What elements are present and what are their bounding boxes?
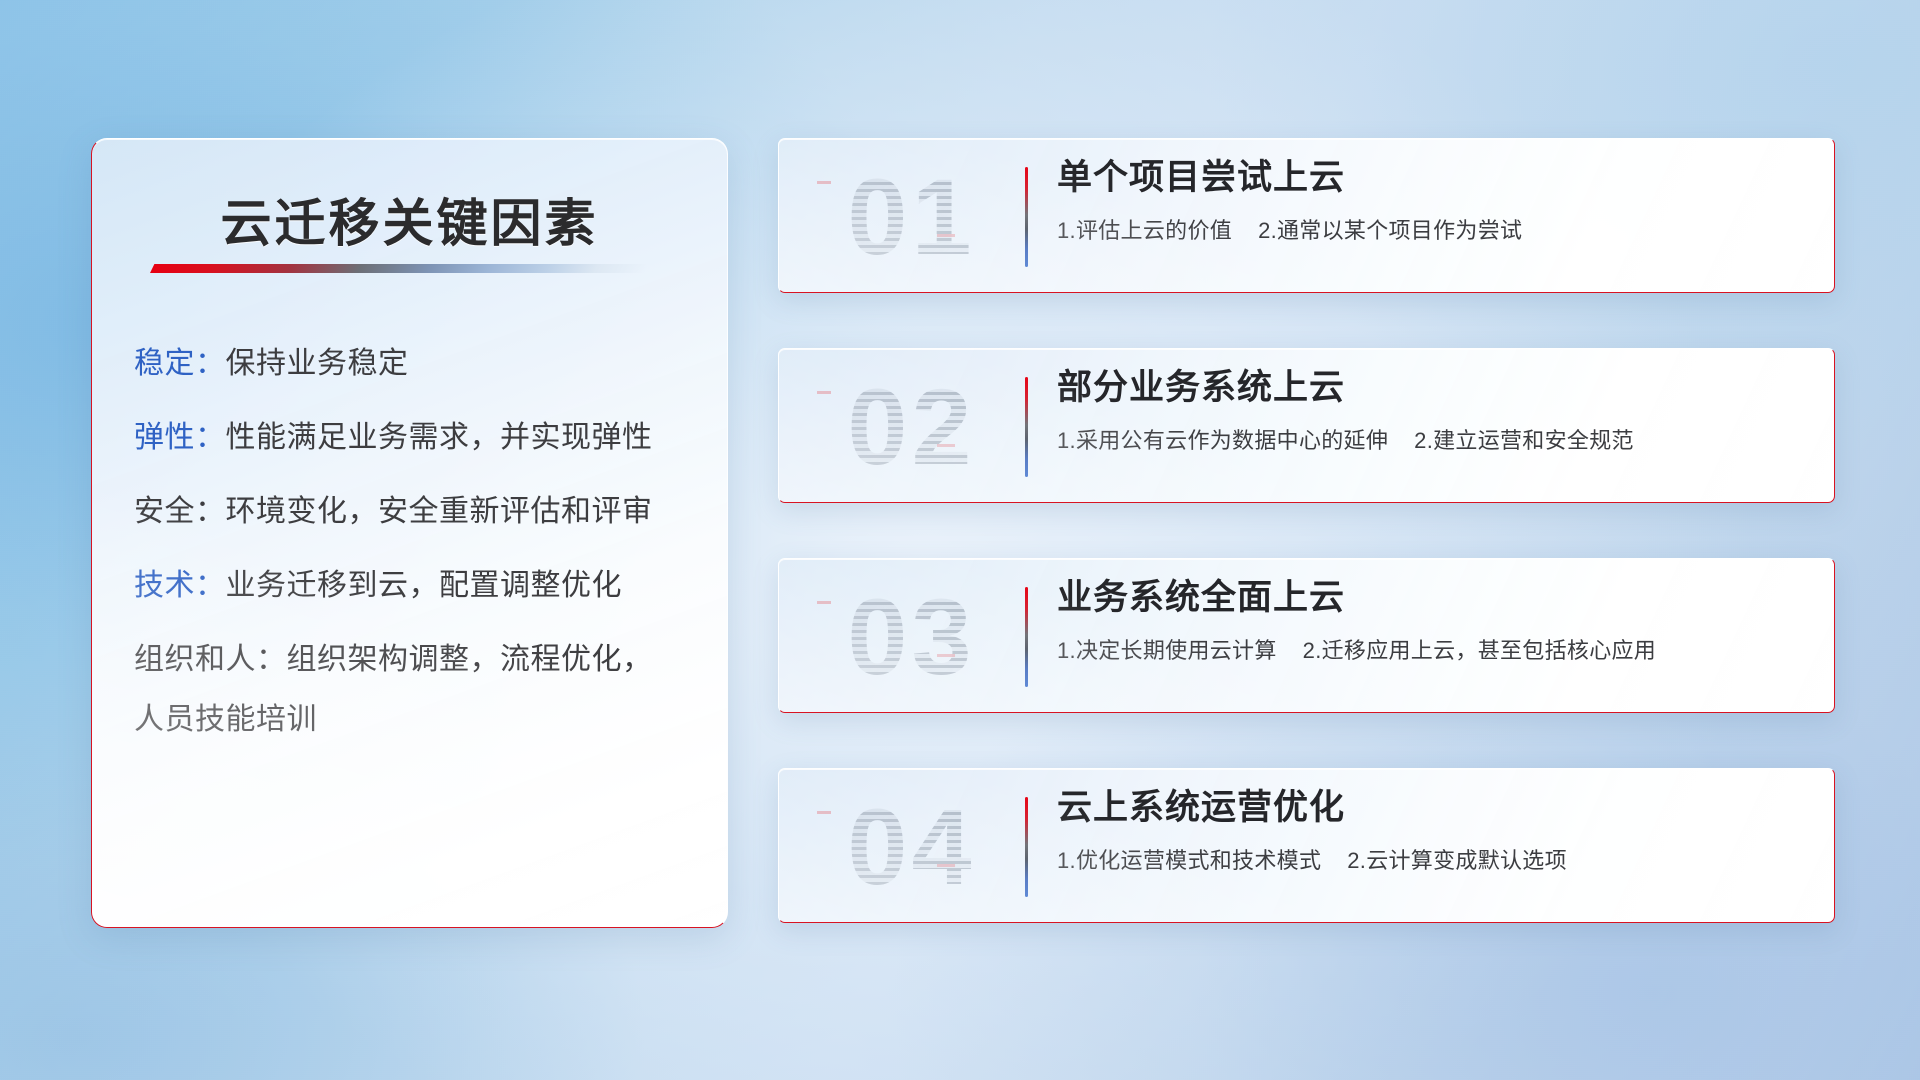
step-point-1: 1.决定长期使用云计算 (1057, 638, 1277, 663)
step-text-block: 单个项目尝试上云 1.评估上云的价值2.通常以某个项目作为尝试 (1057, 156, 1814, 245)
step-point-1: 1.优化运营模式和技术模式 (1057, 848, 1321, 873)
step-card-01[interactable]: 01 单个项目尝试上云 1.评估上云的价值2.通常以某个项目作为尝试 (778, 138, 1835, 293)
step-point-2: 2.迁移应用上云，甚至包括核心应用 (1303, 638, 1656, 663)
key-factors-list: 稳定：保持业务稳定弹性：性能满足业务需求，并实现弹性安全：环境变化，安全重新评估… (134, 349, 693, 735)
step-accent-bar (1025, 587, 1028, 687)
step-subtitle: 1.优化运营模式和技术模式2.云计算变成默认选项 (1057, 843, 1814, 875)
step-text-block: 业务系统全面上云 1.决定长期使用云计算2.迁移应用上云，甚至包括核心应用 (1057, 576, 1814, 665)
step-number-watermark: 01 (804, 147, 1019, 287)
step-point-2: 2.建立运营和安全规范 (1414, 428, 1634, 453)
step-accent-bar (1025, 167, 1028, 267)
step-text-block: 云上系统运营优化 1.优化运营模式和技术模式2.云计算变成默认选项 (1057, 786, 1814, 875)
factor-value: 人员技能培训 (134, 703, 317, 736)
factor-key: 技术： (134, 569, 226, 602)
step-point-1: 1.采用公有云作为数据中心的延伸 (1057, 428, 1388, 453)
factor-value: 保持业务稳定 (226, 347, 409, 380)
factor-line: 组织和人：组织架构调整，流程优化， (134, 645, 693, 675)
step-text-block: 部分业务系统上云 1.采用公有云作为数据中心的延伸2.建立运营和安全规范 (1057, 366, 1814, 455)
slide-stage: 云迁移关键因素 稳定：保持业务稳定弹性：性能满足业务需求，并实现弹性安全：环境变… (0, 0, 1920, 1080)
factor-key: 稳定： (134, 347, 226, 380)
step-point-2: 2.云计算变成默认选项 (1347, 848, 1567, 873)
step-accent-bar (1025, 797, 1028, 897)
step-card-04[interactable]: 04 云上系统运营优化 1.优化运营模式和技术模式2.云计算变成默认选项 (778, 768, 1835, 923)
factor-key: 组织和人： (134, 643, 287, 676)
step-number-watermark: 03 (804, 567, 1019, 707)
factor-value: 环境变化，安全重新评估和评审 (226, 495, 653, 528)
step-subtitle: 1.评估上云的价值2.通常以某个项目作为尝试 (1057, 213, 1814, 245)
step-title: 单个项目尝试上云 (1057, 156, 1814, 200)
step-subtitle: 1.采用公有云作为数据中心的延伸2.建立运营和安全规范 (1057, 423, 1814, 455)
step-title: 业务系统全面上云 (1057, 576, 1814, 620)
factor-line: 人员技能培训 (134, 705, 693, 735)
factor-line: 安全：环境变化，安全重新评估和评审 (134, 497, 693, 527)
step-point-1: 1.评估上云的价值 (1057, 218, 1232, 243)
step-card-03[interactable]: 03 业务系统全面上云 1.决定长期使用云计算2.迁移应用上云，甚至包括核心应用 (778, 558, 1835, 713)
step-card-02[interactable]: 02 部分业务系统上云 1.采用公有云作为数据中心的延伸2.建立运营和安全规范 (778, 348, 1835, 503)
step-number-watermark: 04 (804, 777, 1019, 917)
step-title: 云上系统运营优化 (1057, 786, 1814, 830)
step-accent-bar (1025, 377, 1028, 477)
factor-key: 弹性： (134, 421, 226, 454)
page-title: 云迁移关键因素 (92, 182, 727, 256)
factor-line: 稳定：保持业务稳定 (134, 349, 693, 379)
title-underline-accent (150, 264, 648, 273)
key-factors-panel: 云迁移关键因素 稳定：保持业务稳定弹性：性能满足业务需求，并实现弹性安全：环境变… (91, 138, 728, 928)
factor-value: 业务迁移到云，配置调整优化 (226, 569, 623, 602)
factor-key: 安全： (134, 495, 226, 528)
factor-line: 技术：业务迁移到云，配置调整优化 (134, 571, 693, 601)
factor-line: 弹性：性能满足业务需求，并实现弹性 (134, 423, 693, 453)
factor-value: 性能满足业务需求，并实现弹性 (226, 421, 653, 454)
step-point-2: 2.通常以某个项目作为尝试 (1258, 218, 1522, 243)
step-number-watermark: 02 (804, 357, 1019, 497)
step-subtitle: 1.决定长期使用云计算2.迁移应用上云，甚至包括核心应用 (1057, 633, 1814, 665)
factor-value: 组织架构调整，流程优化， (287, 643, 653, 676)
step-title: 部分业务系统上云 (1057, 366, 1814, 410)
